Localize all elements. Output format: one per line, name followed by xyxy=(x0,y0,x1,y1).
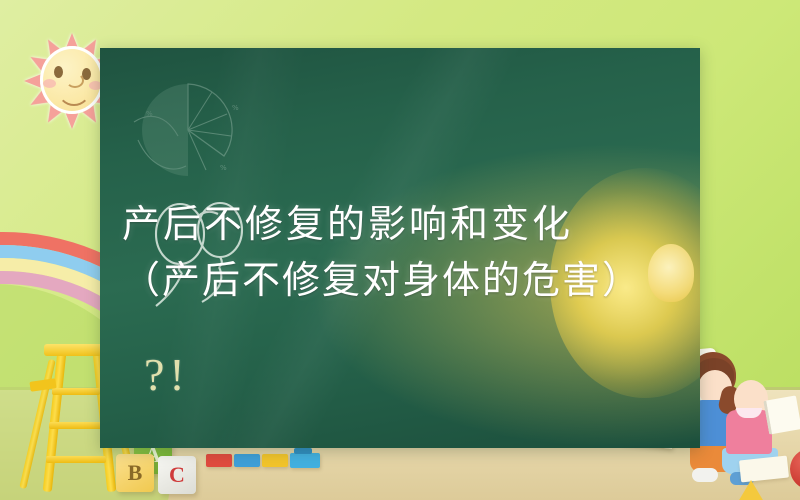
svg-text:%: % xyxy=(146,110,153,118)
pie-chart-doodle-icon: % % % xyxy=(128,70,248,190)
floor-book xyxy=(739,456,789,483)
alphabet-block-g xyxy=(732,480,770,500)
children-reading-illustration: G xyxy=(690,352,800,500)
boy-shoe xyxy=(692,468,718,482)
ladder-rung-top xyxy=(52,388,100,395)
red-ball-icon xyxy=(790,448,800,490)
held-book xyxy=(763,395,800,434)
question-exclamation-doodle: ?! xyxy=(144,348,190,401)
sun-smile xyxy=(57,82,91,106)
toy-train-icon xyxy=(206,452,324,472)
svg-text:%: % xyxy=(232,104,239,112)
train-engine-roof xyxy=(294,448,312,454)
sun-face xyxy=(40,46,104,114)
alphabet-block-b: B xyxy=(116,454,154,492)
svg-text:%: % xyxy=(220,164,227,172)
headline-line-2: （产后不修复对身体的危害） xyxy=(122,252,692,308)
train-car-red xyxy=(206,454,232,467)
headline-line-1: 产后不修复的影响和变化 xyxy=(122,202,573,246)
train-car-blue xyxy=(234,454,260,467)
ladder-rung-middle xyxy=(49,422,103,429)
poster-canvas: A B C G xyxy=(0,0,800,500)
sun-eye-left xyxy=(54,66,63,78)
train-car-yellow xyxy=(262,454,288,467)
chalkboard: % % % ?! 产后不修复的影响和变化 （产后不修复对身体的危害） xyxy=(100,48,700,448)
ladder-rung-bottom xyxy=(46,456,106,463)
sun-cheek-left xyxy=(43,79,56,88)
alphabet-block-c: C xyxy=(158,456,196,494)
train-engine xyxy=(290,453,320,468)
page-title: 产后不修复的影响和变化 （产后不修复对身体的危害） xyxy=(122,196,692,308)
